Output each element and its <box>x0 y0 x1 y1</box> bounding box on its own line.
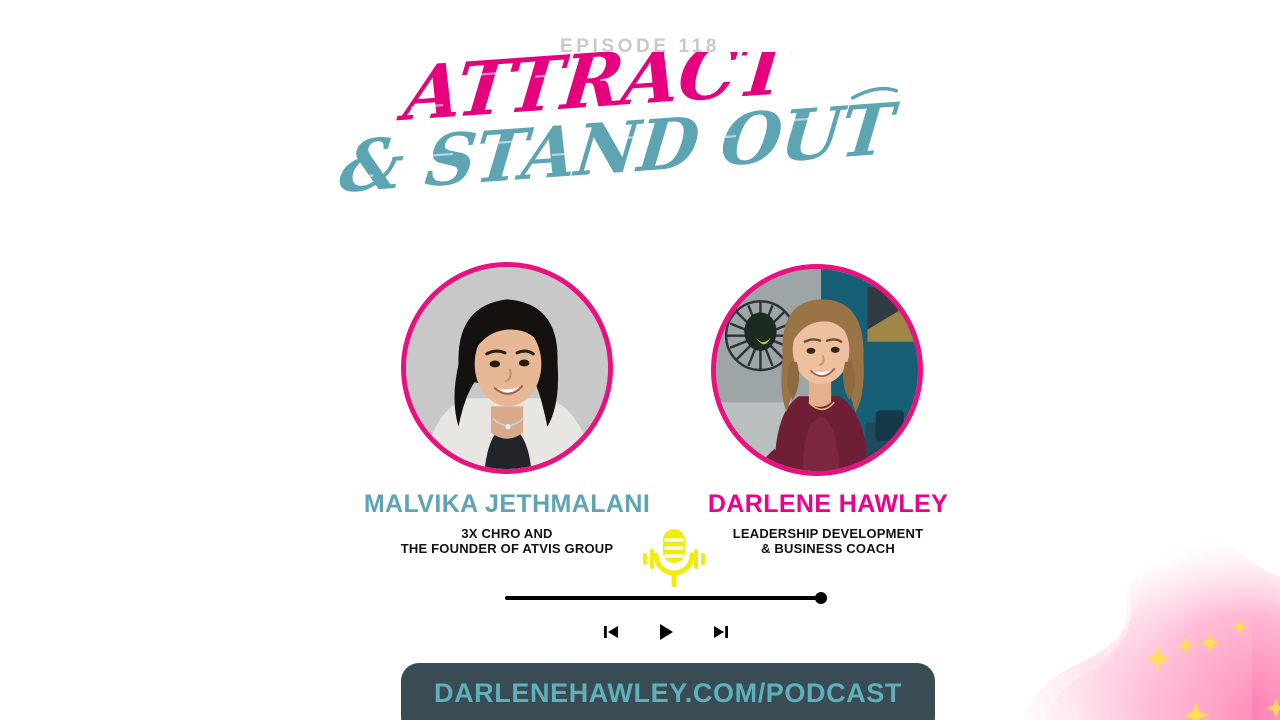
guest-1-role: 3X CHRO AND THE FOUNDER OF ATVIS GROUP <box>357 526 657 556</box>
podcast-url-text: DARLENEHAWLEY.COM/PODCAST <box>401 678 935 709</box>
microphone-icon <box>641 527 707 589</box>
play-icon <box>656 622 676 642</box>
progress-knob[interactable] <box>815 592 827 604</box>
guest-1-info: MALVIKA JETHMALANI 3X CHRO AND THE FOUND… <box>357 489 657 556</box>
next-button[interactable] <box>712 623 730 641</box>
avatar-guest-1 <box>401 262 613 474</box>
previous-button[interactable] <box>602 623 620 641</box>
progress-track[interactable] <box>505 596 818 600</box>
show-title: .brushA { font-family: "DejaVu Serif", s… <box>0 52 1280 217</box>
skip-previous-icon <box>602 623 620 641</box>
podcast-episode-graphic: EPISODE 118 .brushA { font-family: "Deja… <box>0 0 1280 720</box>
play-button[interactable] <box>656 622 676 642</box>
guest-info: MALVIKA JETHMALANI 3X CHRO AND THE FOUND… <box>0 489 1280 564</box>
transport-controls <box>560 620 772 644</box>
skip-next-icon <box>712 623 730 641</box>
guest-2-info: DARLENE HAWLEY LEADERSHIP DEVELOPMENT & … <box>678 489 978 556</box>
podcast-url-banner[interactable]: DARLENEHAWLEY.COM/PODCAST <box>401 663 935 720</box>
avatar-guest-2 <box>711 264 923 476</box>
playback-progress-bar[interactable] <box>505 592 827 604</box>
guest-2-role: LEADERSHIP DEVELOPMENT & BUSINESS COACH <box>678 526 978 556</box>
guest-2-name: DARLENE HAWLEY <box>678 489 978 519</box>
guest-portraits <box>0 262 1280 482</box>
guest-1-name: MALVIKA JETHMALANI <box>357 489 657 519</box>
sparkle-star <box>1143 618 1280 720</box>
